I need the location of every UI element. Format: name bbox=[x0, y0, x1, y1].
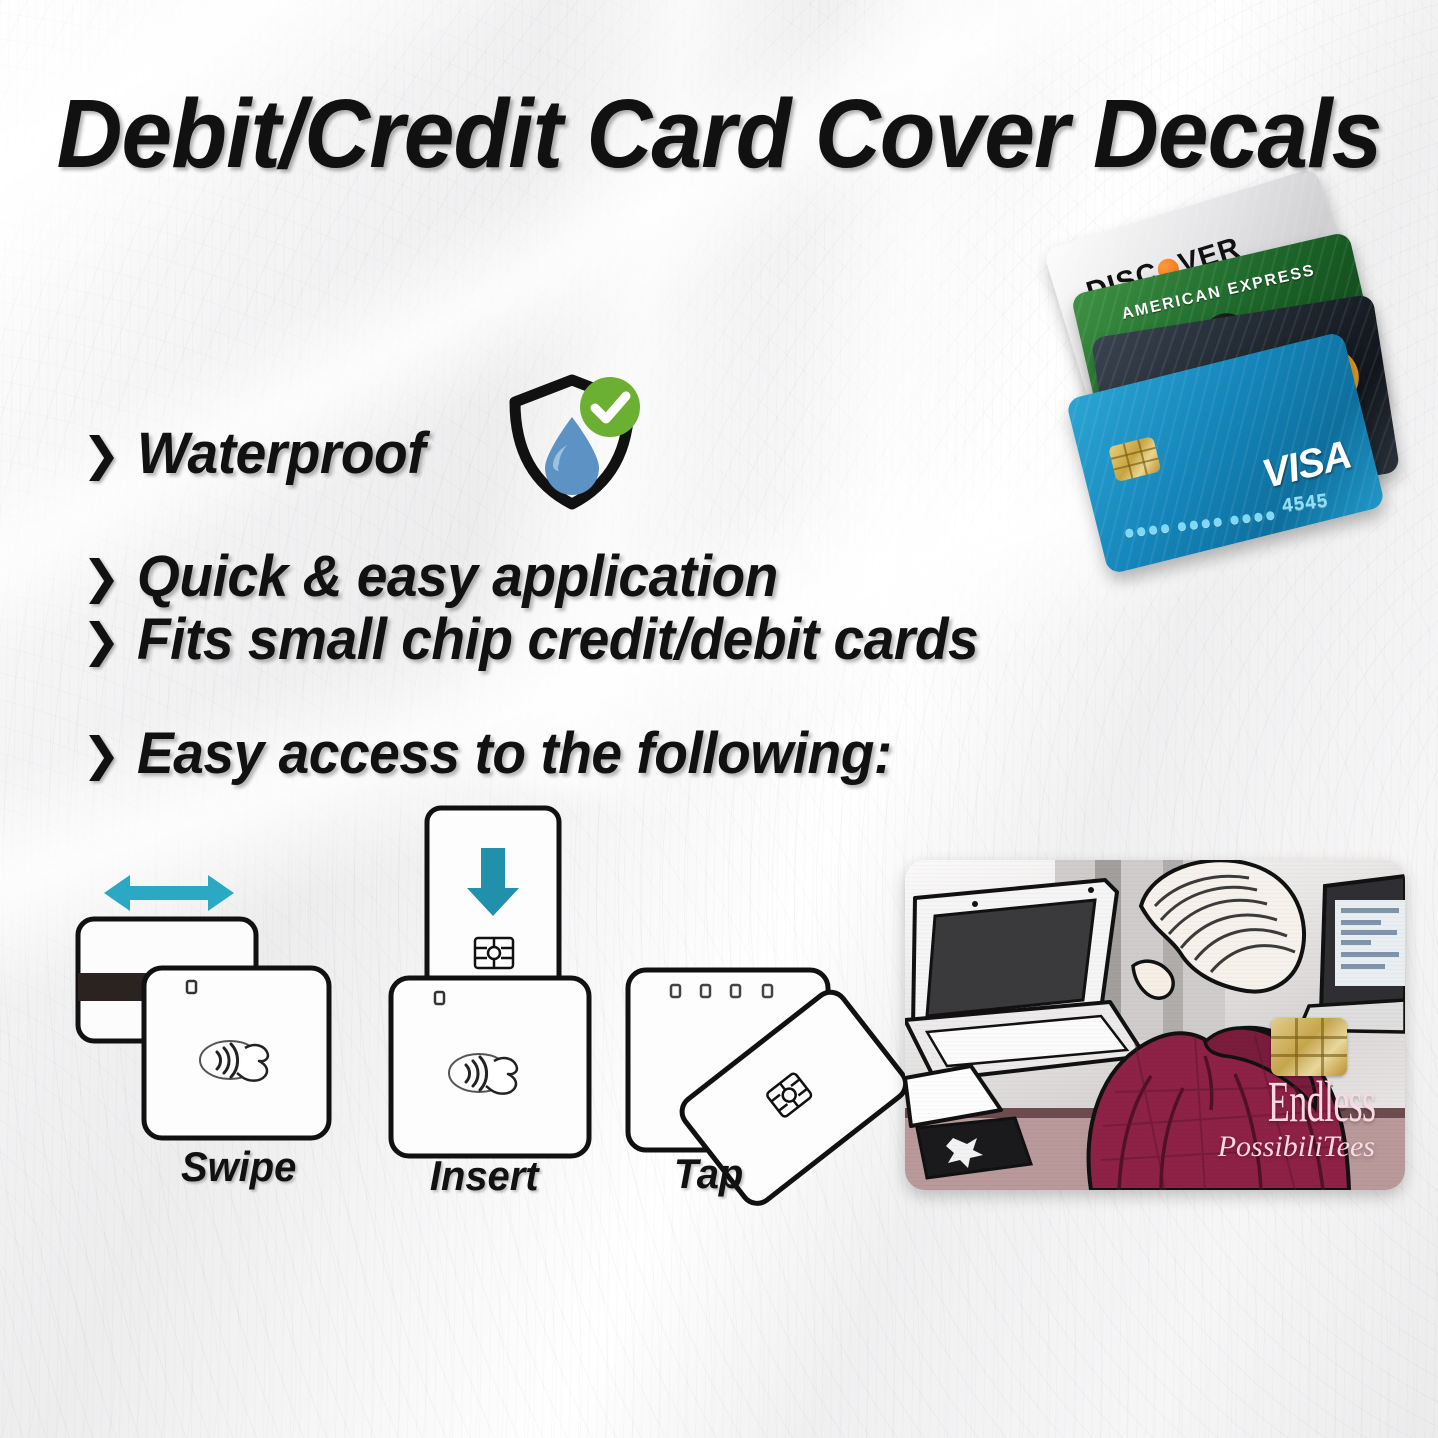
poster-canvas: Debit/Credit Card Cover Decals ❯ Waterpr… bbox=[0, 0, 1438, 1438]
method-label-tap: Tap bbox=[674, 1150, 743, 1198]
brand-name-endless: Endless bbox=[1267, 1075, 1375, 1128]
bullet-marker-icon: ❯ bbox=[82, 554, 121, 600]
feature-row-waterproof: ❯ Waterproof bbox=[82, 420, 440, 487]
method-diagram-swipe: Swipe bbox=[60, 855, 420, 1175]
feature-label-quick-easy: Quick & easy application bbox=[137, 543, 778, 610]
bullet-marker-icon: ❯ bbox=[82, 731, 121, 777]
product-brand-lockup: Endless PossibiliTees bbox=[1202, 1075, 1375, 1164]
waterproof-shield-icon bbox=[497, 372, 647, 512]
feature-label-easy-access: Easy access to the following: bbox=[137, 720, 892, 787]
feature-row-easy-access: ❯ Easy access to the following: bbox=[82, 720, 931, 787]
method-diagram-insert: Insert bbox=[385, 800, 645, 1180]
bullet-marker-icon: ❯ bbox=[82, 431, 121, 477]
double-arrow-horizontal-icon bbox=[104, 875, 234, 911]
credit-card-fan: DISC VER AMERICAN EXPRESS mastercard bbox=[1055, 195, 1415, 645]
method-label-insert: Insert bbox=[430, 1152, 539, 1200]
feature-row-quick-easy: ❯ Quick & easy application bbox=[82, 543, 811, 610]
method-diagram-tap: Tap bbox=[618, 950, 948, 1230]
feature-row-fits-small-chip: ❯ Fits small chip credit/debit cards bbox=[82, 606, 1022, 673]
bullet-marker-icon: ❯ bbox=[82, 617, 121, 663]
emv-chip-icon bbox=[475, 938, 513, 968]
inserted-chip-card bbox=[427, 808, 559, 996]
product-card-artwork: Endless PossibiliTees bbox=[905, 860, 1405, 1190]
card-reader-terminal bbox=[144, 968, 329, 1138]
feature-label-fits-small-chip: Fits small chip credit/debit cards bbox=[137, 606, 978, 673]
laptop-right-illustration bbox=[1299, 876, 1405, 1032]
feature-label-waterproof: Waterproof bbox=[137, 420, 425, 487]
product-card-preview[interactable]: Endless PossibiliTees bbox=[905, 860, 1405, 1190]
card-reader-terminal bbox=[391, 978, 589, 1156]
brand-name-possibilitees: PossibiliTees bbox=[1202, 1130, 1375, 1164]
method-label-swipe: Swipe bbox=[181, 1143, 296, 1191]
page-title: Debit/Credit Card Cover Decals bbox=[43, 82, 1395, 187]
emv-chip-icon bbox=[1271, 1018, 1347, 1076]
